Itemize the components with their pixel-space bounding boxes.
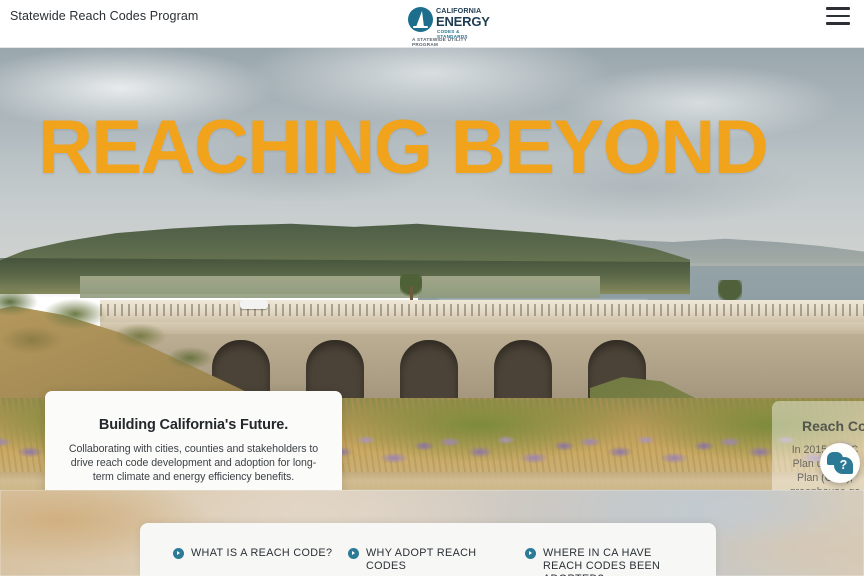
hero-banner: REACHING BEYOND Building California's Fu…	[0, 48, 864, 490]
quick-link-why-adopt-reach-codes[interactable]: WHY ADOPT REACH CODES	[348, 547, 498, 573]
hamburger-menu-icon[interactable]	[826, 7, 850, 25]
hero-headline: REACHING BEYOND	[38, 110, 767, 186]
hero-intro-card: Building California's Future. Collaborat…	[45, 391, 342, 490]
quick-link-label: WHERE IN CA HAVE REACH CODES BEEN ADOPTE…	[543, 547, 685, 576]
logo-line-energy: ENERGY	[436, 15, 490, 29]
quick-link-what-is-a-reach-code[interactable]: WHAT IS A REACH CODE?	[173, 547, 333, 560]
site-title: Statewide Reach Codes Program	[10, 9, 198, 23]
coastal-shrubs	[0, 280, 310, 400]
logo-line-utility-program: A STATEWIDE UTILITY PROGRAM	[412, 37, 488, 47]
quick-link-label: WHAT IS A REACH CODE?	[191, 547, 332, 560]
bridge-arch	[400, 340, 458, 404]
bridge-arch	[494, 340, 552, 404]
circle-arrow-right-icon	[348, 548, 359, 559]
question-mark-glyph: ?	[834, 456, 853, 473]
site-header: Statewide Reach Codes Program CALIFORNIA…	[0, 0, 864, 48]
circle-arrow-right-icon	[173, 548, 184, 559]
hamburger-line	[826, 15, 850, 18]
hamburger-line	[826, 7, 850, 10]
sailboat-icon	[408, 7, 433, 32]
next-slide-body-line: greenhouse ga	[778, 485, 864, 490]
hamburger-line	[826, 22, 850, 25]
page-root: Statewide Reach Codes Program CALIFORNIA…	[0, 0, 864, 576]
hero-card-title: Building California's Future.	[63, 417, 324, 433]
quick-links-panel: WHAT IS A REACH CODE? WHY ADOPT REACH CO…	[140, 523, 716, 576]
quick-link-label: WHY ADOPT REACH CODES	[366, 547, 498, 573]
chat-help-button[interactable]: ?	[820, 443, 860, 483]
hero-card-body: Collaborating with cities, counties and …	[63, 443, 324, 484]
quick-link-where-in-ca-adopted[interactable]: WHERE IN CA HAVE REACH CODES BEEN ADOPTE…	[525, 547, 685, 576]
circle-arrow-right-icon	[525, 548, 536, 559]
next-slide-title: Reach Cod	[772, 418, 864, 434]
california-energy-logo[interactable]: CALIFORNIA ENERGY CODES & STANDARDS A ST…	[408, 4, 488, 44]
